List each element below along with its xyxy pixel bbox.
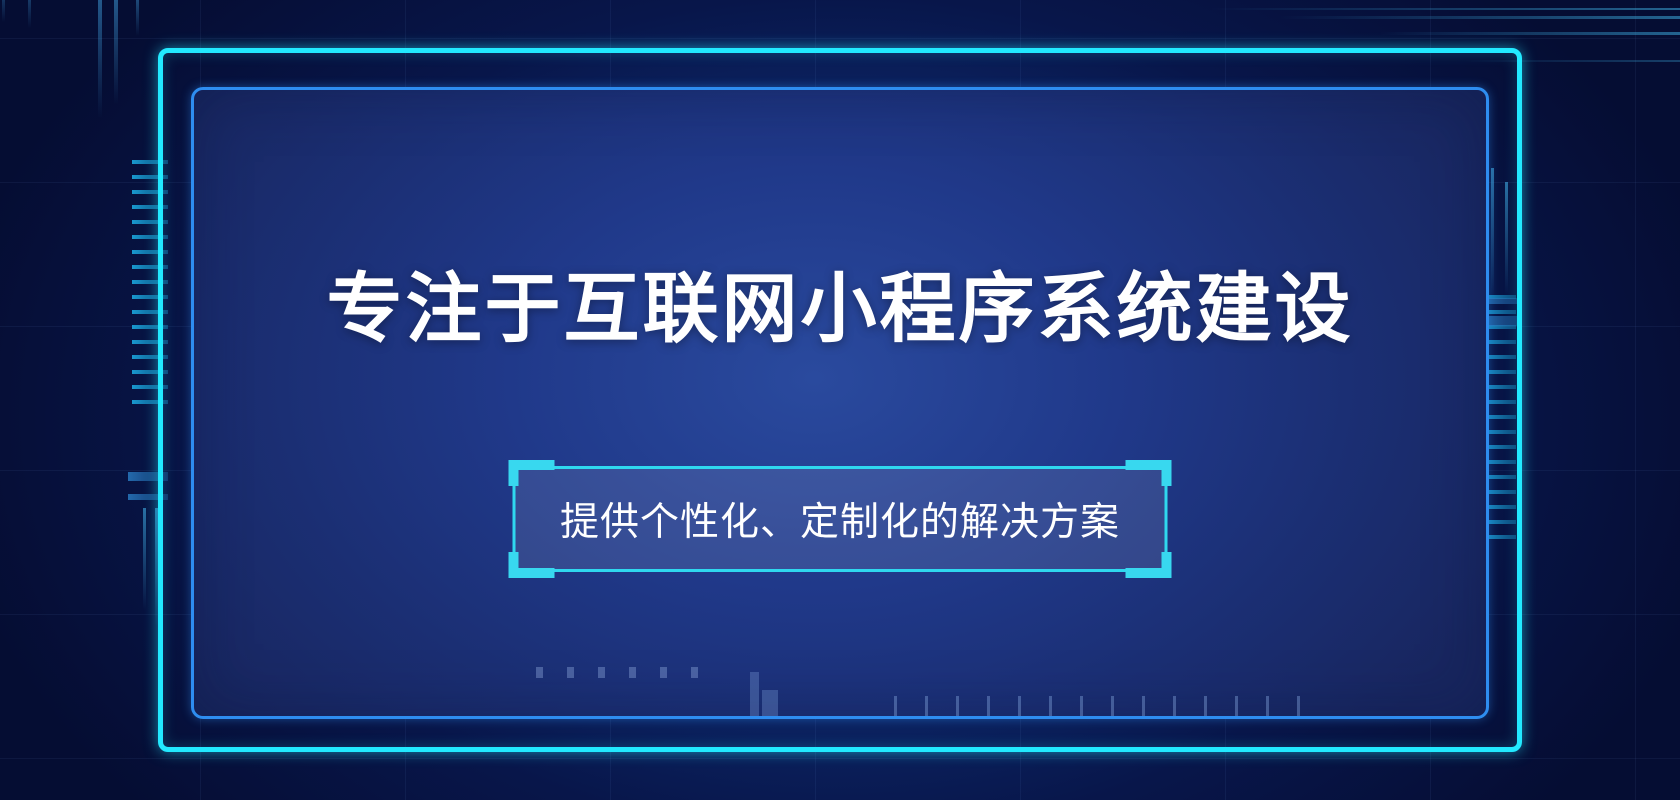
- decor-mini-bars: [750, 672, 781, 716]
- decor-dots: [536, 667, 698, 678]
- decor-vline-left-1: [143, 508, 146, 610]
- neon-outer-frame: [158, 48, 1522, 752]
- inner-panel: [191, 87, 1489, 719]
- hero-banner: 专注于互联网小程序系统建设 提供个性化、定制化的解决方案: [0, 0, 1680, 800]
- decor-bottom-ticks: [894, 696, 1300, 716]
- subtitle-text: 提供个性化、定制化的解决方案: [513, 466, 1168, 572]
- page-title: 专注于互联网小程序系统建设: [0, 268, 1680, 352]
- subtitle-callout: 提供个性化、定制化的解决方案: [513, 466, 1168, 572]
